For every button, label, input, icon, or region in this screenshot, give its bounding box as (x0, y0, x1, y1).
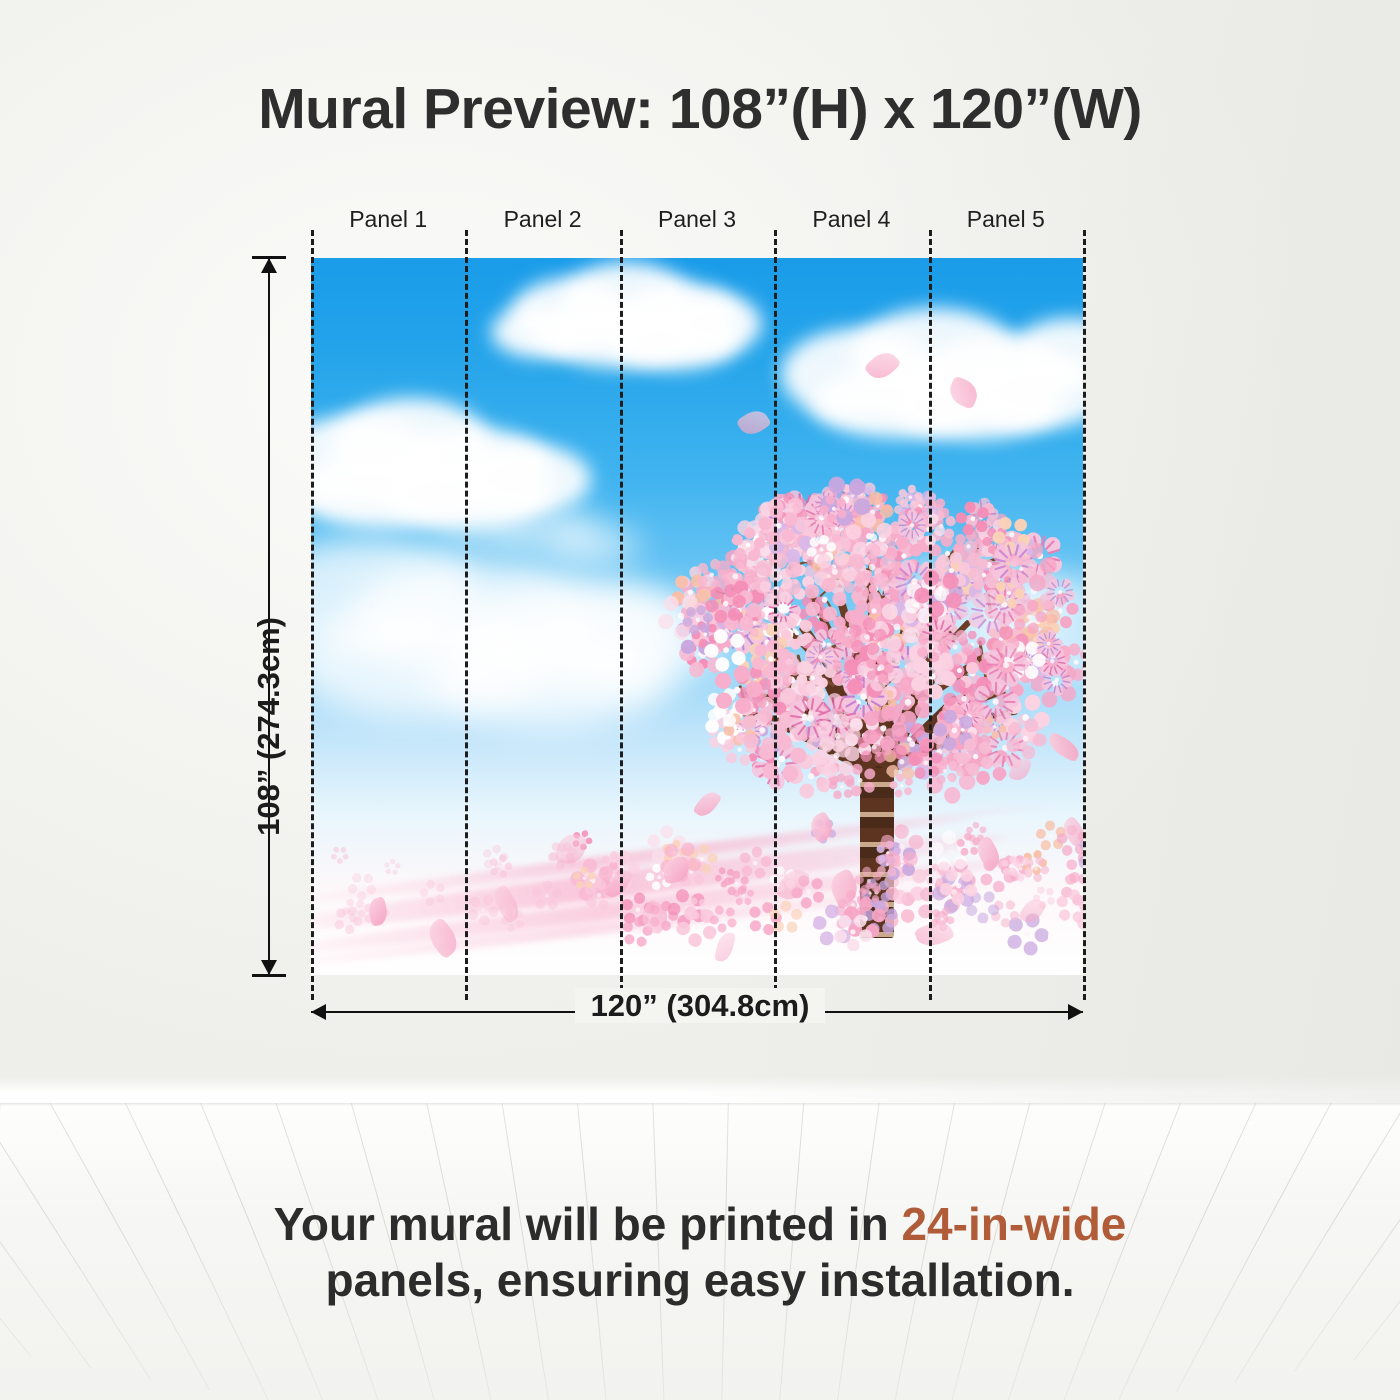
caption-accent-text: 24-in-wide (901, 1198, 1126, 1250)
height-dimension-label: 108” (274.3cm) (251, 617, 287, 836)
wall-floor-shadow (0, 1077, 1400, 1103)
panel-divider-4 (929, 230, 932, 1000)
cloud-puff (431, 502, 521, 542)
ground-blossom (573, 867, 596, 890)
ground-blossom (833, 913, 872, 952)
panel-divider-1 (465, 230, 468, 1000)
panel-divider-2 (620, 230, 623, 1000)
blossom (802, 577, 847, 622)
cloud-puff (551, 526, 641, 566)
panel-label-2: Panel 2 (465, 206, 619, 233)
ground-blossom (382, 857, 404, 879)
ground-blossom (329, 843, 351, 865)
width-dimension-text: 120” (304.8cm) (575, 988, 826, 1023)
panel-divider-right-edge (1083, 230, 1086, 1000)
panel-label-4: Panel 4 (774, 206, 928, 233)
panel-divider-3 (774, 230, 777, 1000)
blossom (864, 654, 893, 683)
caption-line-1: Your mural will be printed in 24-in-wide (0, 1196, 1400, 1252)
panel-divider-left-edge (311, 230, 314, 1000)
panel-label-3: Panel 3 (620, 206, 774, 233)
page-title: Mural Preview: 108”(H) x 120”(W) (0, 76, 1400, 142)
mural-preview-area: Panel 1Panel 2Panel 3Panel 4Panel 5 (311, 258, 1083, 975)
width-dimension-label: 120” (304.8cm) (0, 988, 1400, 1024)
caption: Your mural will be printed in 24-in-wide… (0, 1196, 1400, 1308)
cloud-puff (666, 294, 762, 354)
ground-blossom (332, 904, 364, 936)
blossom (749, 637, 793, 681)
blossom (827, 772, 857, 802)
mural-artwork (311, 258, 1083, 975)
caption-line-1-before: Your mural will be printed in (274, 1198, 902, 1250)
panel-label-1: Panel 1 (311, 206, 465, 233)
caption-line-2: panels, ensuring easy installation. (0, 1252, 1400, 1308)
blossom (897, 483, 924, 510)
cloud-puff (491, 306, 587, 358)
panel-label-5: Panel 5 (929, 206, 1083, 233)
height-arrow-cap-bottom (252, 974, 286, 977)
